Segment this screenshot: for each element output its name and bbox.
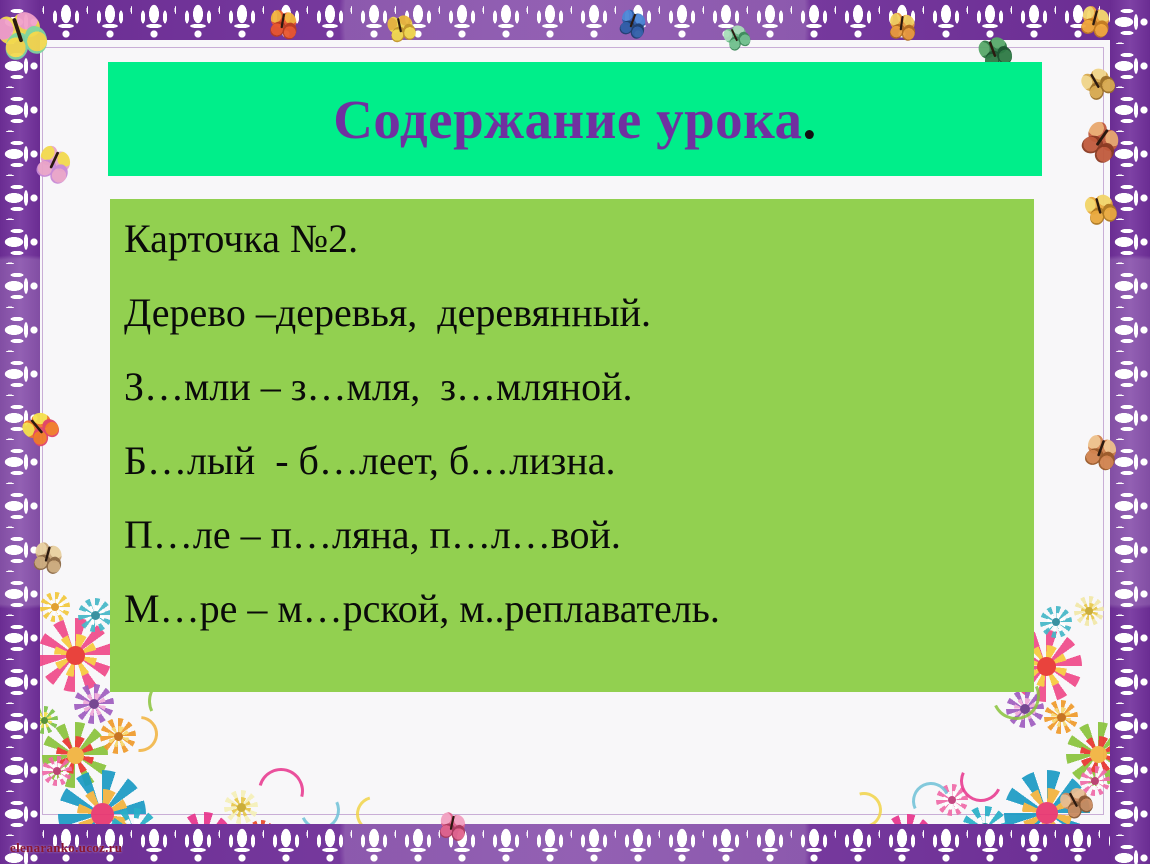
frame-band-bottom <box>0 824 1150 864</box>
flower-core <box>1037 657 1056 676</box>
butterfly-wing <box>1102 203 1118 222</box>
flower-yellow-small <box>40 592 70 622</box>
content-line: Карточка №2. <box>124 219 1034 259</box>
flower-core <box>51 603 59 611</box>
title-box: Содержание урока. <box>108 62 1042 176</box>
flower-core <box>237 803 246 812</box>
flower-core <box>66 646 85 665</box>
watermark: elenaranko.ucoz.ru <box>10 840 122 856</box>
flower-pink-fan <box>42 756 72 786</box>
flower-pale-daisy <box>224 790 258 824</box>
flower-core <box>91 611 100 620</box>
flower-core <box>1036 802 1058 824</box>
content-line: М…ре – м…рской, м..реплаватель. <box>124 589 1034 629</box>
flower-teal-small-r <box>1040 606 1072 638</box>
fleur-de-lis-motif-icon <box>0 824 1150 864</box>
butterfly-top-mid-left <box>264 9 313 53</box>
flower-pale-top-r <box>1074 596 1104 626</box>
flower-core <box>41 717 48 724</box>
slide-canvas: Содержание урока. Карточка №2.Дерево –де… <box>0 0 1150 864</box>
flower-teal-small <box>78 598 112 632</box>
fleur-de-lis-motif-icon <box>0 0 1150 40</box>
butterfly-wing <box>402 23 418 41</box>
frame-band-right <box>1110 0 1150 864</box>
page-title-text: Содержание урока <box>333 89 802 150</box>
fleur-de-lis-motif-icon <box>1110 0 1150 864</box>
flower-orange-ring-r <box>1044 700 1078 734</box>
flower-core <box>1052 618 1060 626</box>
flower-core <box>53 767 61 775</box>
flower-core <box>1057 713 1066 722</box>
butterfly-wing <box>24 25 48 54</box>
flower-core <box>67 747 84 764</box>
content-line: Б…лый - б…леет, б…лизна. <box>124 441 1034 481</box>
content-line: Дерево –деревья, деревянный. <box>124 293 1034 333</box>
content-line: З…мли – з…мля, з…мляной. <box>124 367 1034 407</box>
page-title-period: . <box>803 89 817 150</box>
flower-violet-mid <box>74 684 114 724</box>
flower-core <box>1085 607 1093 615</box>
content-box: Карточка №2.Дерево –деревья, деревянный.… <box>110 199 1034 692</box>
flower-core <box>89 699 99 709</box>
content-line: П…ле – п…ляна, п…л…вой. <box>124 515 1034 555</box>
flower-core <box>1090 746 1107 763</box>
butterfly-top-right-a <box>885 12 927 50</box>
page-title: Содержание урока. <box>333 92 817 147</box>
butterfly-wing <box>738 32 750 47</box>
frame-band-top <box>0 0 1150 40</box>
